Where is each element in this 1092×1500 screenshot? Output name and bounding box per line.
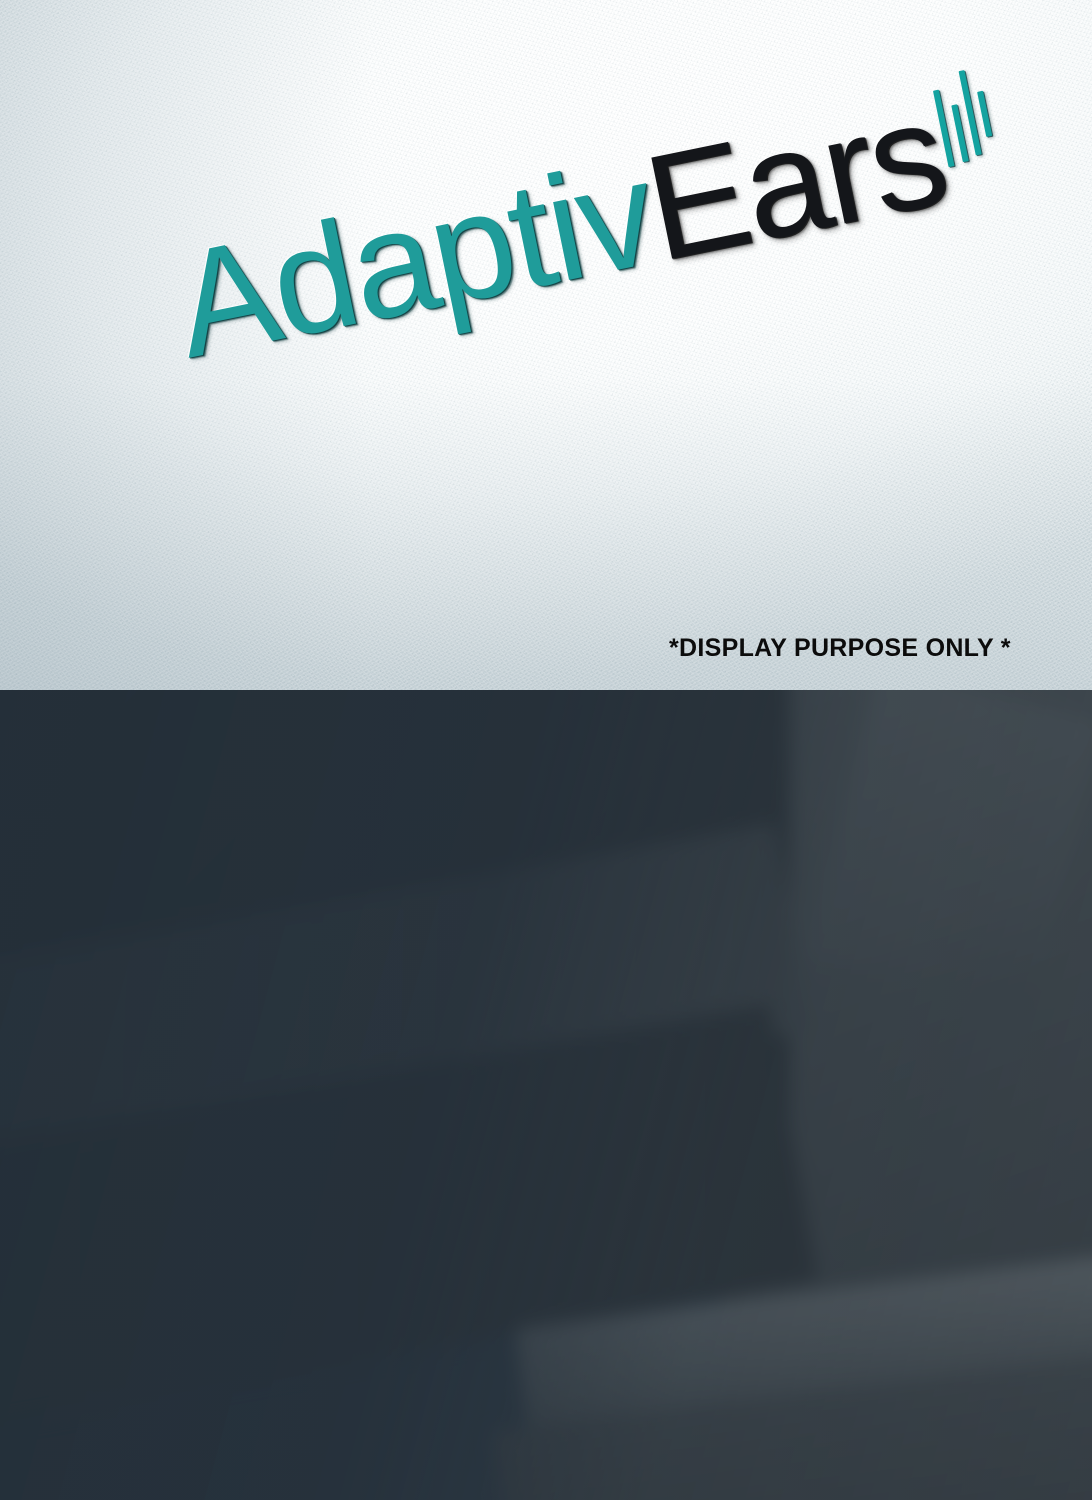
paper-mockup-panel: AdaptivEars *DISPLAY PURPOSE ONLY * xyxy=(0,0,1092,690)
blurred-office-background xyxy=(0,690,1092,1500)
logo-mockup-canvas: AdaptivEars *DISPLAY PURPOSE ONLY * xyxy=(0,0,1092,1500)
office-signage-panel: AdaptivEars *DISPLAY PURPOSE ONLY * xyxy=(0,690,1092,1500)
display-purpose-caption-top: *DISPLAY PURPOSE ONLY * xyxy=(669,634,1011,663)
